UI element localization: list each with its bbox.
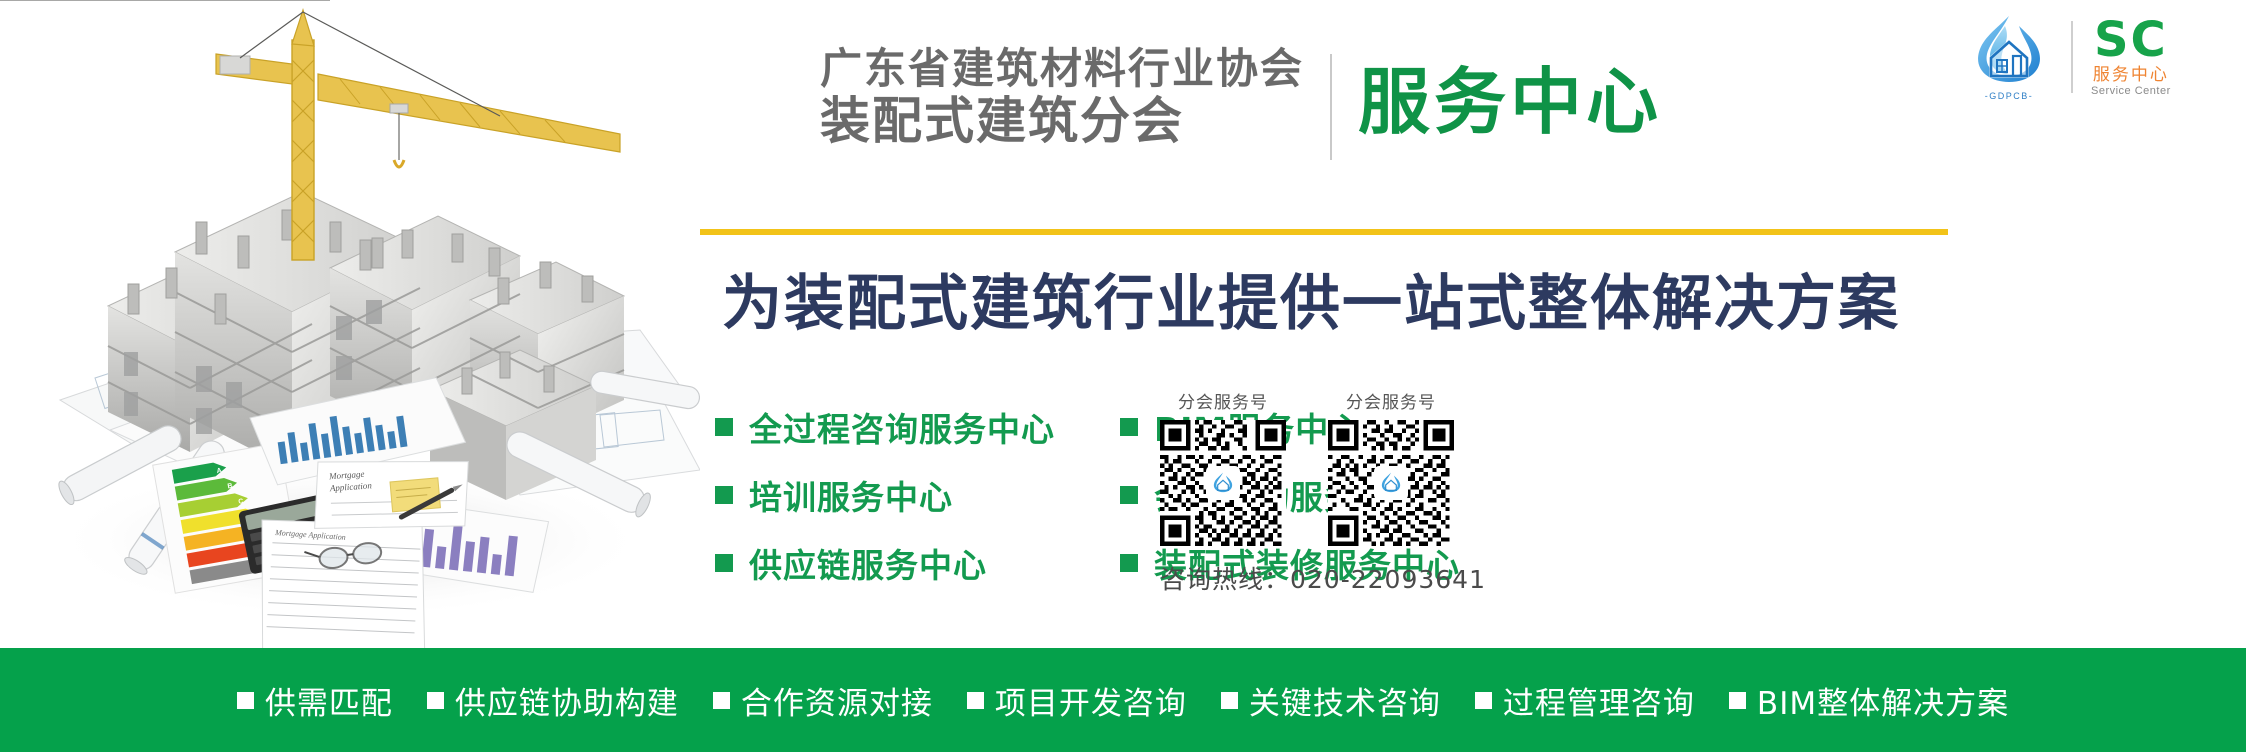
association-name-line1: 广东省建筑材料行业协会: [820, 48, 1304, 90]
main-slogan: 为装配式建筑行业提供一站式整体解决方案: [722, 255, 1900, 342]
square-bullet-icon: [1475, 692, 1492, 709]
construction-photo: ABC DEF G: [0, 0, 700, 648]
square-bullet-icon: [1221, 692, 1238, 709]
gdpcb-logo: -GDPCB-: [1965, 12, 2053, 101]
gdpcb-wordmark: -GDPCB-: [1965, 91, 2053, 101]
qr-code-image[interactable]: [1328, 420, 1454, 546]
logo-lockup: -GDPCB- SC 服务中心 Service Center: [1965, 12, 2171, 101]
bottom-bar-item[interactable]: 项目开发咨询: [967, 678, 1187, 723]
bottom-bar-item-label: 供应链协助构建: [455, 678, 679, 723]
square-bullet-icon: [1729, 692, 1746, 709]
association-header: 广东省建筑材料行业协会 装配式建筑分会 服务中心: [820, 48, 1662, 160]
sc-chinese-label: 服务中心: [2093, 67, 2169, 84]
qr-code-entry: 分会服务号: [1328, 388, 1454, 546]
qr-contact-block: 分会服务号: [1160, 388, 1486, 596]
service-column-left: 全过程咨询服务中心 培训服务中心 供应链服务中心: [715, 400, 1120, 604]
bottom-bar-item[interactable]: BIM整体解决方案: [1729, 678, 2009, 723]
qr-caption: 分会服务号: [1178, 388, 1268, 413]
bottom-bar-item-label: 项目开发咨询: [995, 678, 1187, 723]
qr-code-entry: 分会服务号: [1160, 388, 1286, 546]
bottom-service-bar: 供需匹配 供应链协助构建 合作资源对接 项目开发咨询 关键技术咨询 过程管理咨询…: [0, 648, 2246, 752]
square-bullet-icon: [427, 692, 444, 709]
bottom-bar-item[interactable]: 供应链协助构建: [427, 678, 679, 723]
flame-house-icon: [1378, 470, 1404, 496]
bottom-bar-item[interactable]: 供需匹配: [237, 678, 393, 723]
square-bullet-icon: [713, 692, 730, 709]
square-bullet-icon: [1120, 418, 1138, 436]
qr-center-logo: [1206, 466, 1240, 500]
hotline-text: 咨询热线：020-22093641: [1160, 560, 1486, 596]
logo-divider: [2071, 21, 2073, 93]
bottom-bar-item-label: 关键技术咨询: [1249, 678, 1441, 723]
sc-logo: SC 服务中心 Service Center: [2091, 16, 2171, 97]
bottom-bar-item-label: 过程管理咨询: [1503, 678, 1695, 723]
square-bullet-icon: [715, 486, 733, 504]
square-bullet-icon: [1120, 486, 1138, 504]
promotional-banner: ABC DEF G: [0, 0, 2246, 752]
bottom-bar-item[interactable]: 关键技术咨询: [1221, 678, 1441, 723]
service-item-label: 供应链服务中心: [749, 539, 987, 587]
service-item-label: 全过程咨询服务中心: [749, 403, 1055, 451]
bottom-bar-item-label: 供需匹配: [265, 678, 393, 723]
bottom-bar-item[interactable]: 合作资源对接: [713, 678, 933, 723]
sc-english-label: Service Center: [2091, 86, 2171, 97]
association-name-line2: 装配式建筑分会: [820, 96, 1304, 146]
square-bullet-icon: [237, 692, 254, 709]
sc-initials: SC: [2094, 16, 2168, 64]
yellow-divider-rule: [700, 229, 1948, 235]
qr-code-image[interactable]: [1160, 420, 1286, 546]
service-center-title: 服务中心: [1358, 66, 1662, 138]
qr-caption: 分会服务号: [1346, 388, 1436, 413]
service-item-label: 培训服务中心: [749, 471, 953, 519]
flame-house-icon: [1965, 12, 2053, 90]
square-bullet-icon: [715, 418, 733, 436]
bottom-bar-item[interactable]: 过程管理咨询: [1475, 678, 1695, 723]
association-name: 广东省建筑材料行业协会 装配式建筑分会: [820, 48, 1304, 146]
qr-center-logo: [1374, 466, 1408, 500]
square-bullet-icon: [1120, 554, 1138, 572]
service-item[interactable]: 全过程咨询服务中心: [715, 400, 1120, 454]
bottom-bar-item-label: BIM整体解决方案: [1757, 678, 2009, 723]
flame-house-icon: [1210, 470, 1236, 496]
bottom-bar-item-label: 合作资源对接: [741, 678, 933, 723]
service-item[interactable]: 供应链服务中心: [715, 536, 1120, 590]
square-bullet-icon: [715, 554, 733, 572]
header-divider: [1330, 54, 1332, 160]
service-item[interactable]: 培训服务中心: [715, 468, 1120, 522]
square-bullet-icon: [967, 692, 984, 709]
